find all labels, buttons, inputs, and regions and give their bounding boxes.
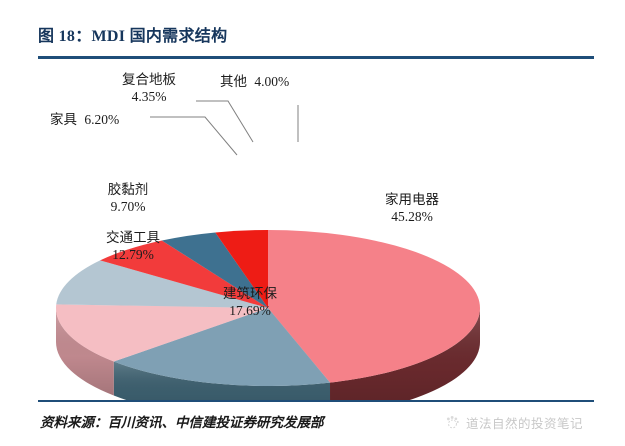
pie-label-name: 胶黏剂 (108, 182, 149, 197)
pie-label-other: 其他 4.00% (220, 74, 350, 91)
pie-label-home-appliance: 家用电器 45.28% (352, 192, 472, 226)
watermark: 道法自然的投资笔记 (445, 413, 583, 432)
pie-label-construction: 建筑环保 17.69% (190, 286, 310, 320)
pie-label-furniture: 家具 6.20% (50, 112, 180, 129)
chart-figure-page: 图 18：MDI 国内需求结构 (0, 0, 625, 446)
title-divider (38, 56, 594, 59)
figure-footer: 资料来源：百川资讯、中信建投证券研究发展部 道法自然的投资笔记 (40, 408, 600, 438)
pie-label-value: 9.70% (80, 199, 176, 216)
page-title: 图 18：MDI 国内需求结构 (38, 22, 598, 46)
pie-label-value: 12.79% (78, 247, 188, 264)
pie-label-value: 4.35% (90, 89, 208, 106)
pie-label-adhesive: 胶黏剂 9.70% (80, 182, 176, 216)
footer-divider (38, 400, 594, 402)
pie-label-name: 复合地板 (122, 72, 176, 87)
pie-label-name: 建筑环保 (223, 286, 277, 301)
pie-label-name: 家用电器 (385, 192, 439, 207)
pie-chart-stage: 家用电器 45.28% 建筑环保 17.69% 交通工具 12.79% 胶黏剂 … (0, 60, 625, 400)
paw-logo-icon (445, 415, 460, 430)
pie-label-name: 其他 (220, 74, 247, 89)
pie-label-name: 家具 (50, 112, 77, 127)
watermark-text: 道法自然的投资笔记 (466, 413, 583, 432)
pie-label-value: 6.20% (84, 112, 119, 127)
pie-label-value: 17.69% (190, 303, 310, 320)
pie-label-name: 交通工具 (106, 230, 160, 245)
source-note: 资料来源：百川资讯、中信建投证券研究发展部 (40, 411, 324, 431)
pie-label-value: 45.28% (352, 209, 472, 226)
pie-label-transport: 交通工具 12.79% (78, 230, 188, 264)
pie-label-laminate-floor: 复合地板 4.35% (90, 72, 208, 106)
pie-label-value: 4.00% (254, 74, 289, 89)
